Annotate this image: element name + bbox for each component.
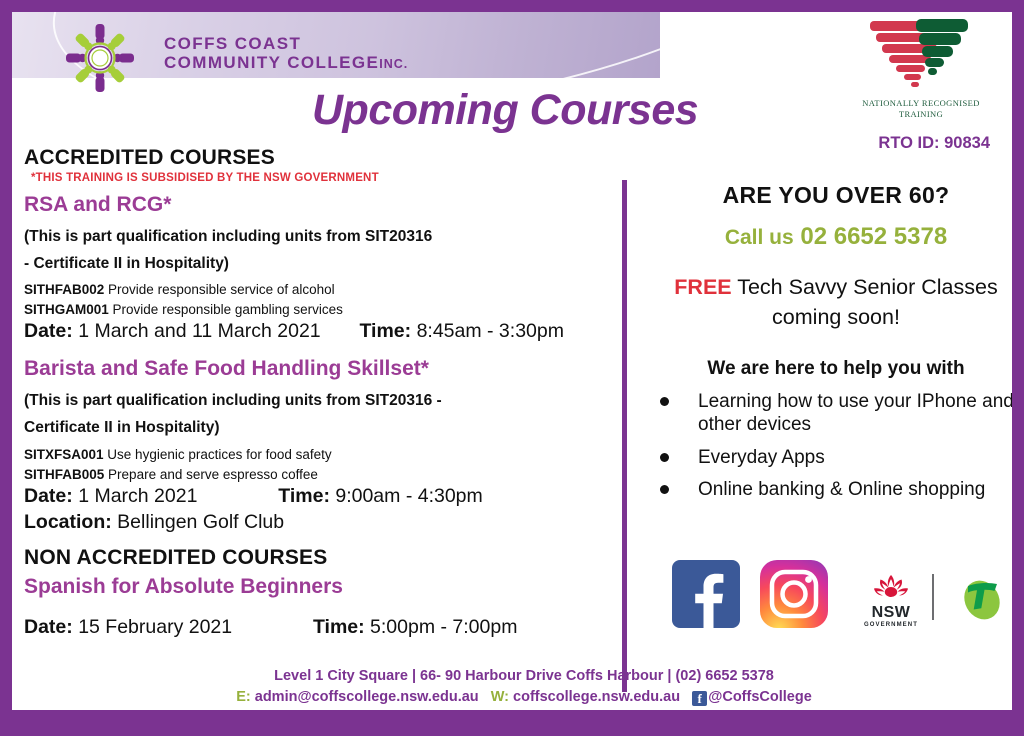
unit-code: SITHFAB002	[24, 282, 104, 297]
qual-line-2: - Certificate II in Hospitality)	[24, 250, 616, 277]
logo-separator	[932, 574, 934, 620]
nsw-government-logo: NSW GOVERNMENT	[858, 574, 924, 628]
course-title: Barista and Safe Food Handling Skillset*	[24, 357, 616, 381]
nsw-logo-subtext: GOVERNMENT	[858, 622, 924, 628]
time-value: 8:45am - 3:30pm	[417, 320, 564, 342]
footer-bar	[12, 710, 1024, 724]
waratah-icon	[868, 574, 914, 600]
time-label: Time:	[313, 616, 365, 638]
course-location: Location: Bellingen Golf Club	[24, 511, 616, 534]
accredited-heading-row: ACCREDITED COURSES*THIS TRAINING IS SUBS…	[24, 146, 616, 188]
logo-strip: NSW GOVERNMENT	[672, 560, 1024, 670]
web-label: W:	[491, 689, 509, 705]
free-badge: FREE	[674, 275, 731, 299]
free-classes-line-2: coming soon!	[648, 303, 1024, 333]
left-column: ACCREDITED COURSES*THIS TRAINING IS SUBS…	[24, 146, 616, 639]
time-value: 5:00pm - 7:00pm	[370, 616, 517, 638]
facebook-icon[interactable]	[672, 560, 740, 628]
brand-inc: INC.	[379, 57, 408, 71]
unit-name: Provide responsible service of alcohol	[108, 282, 335, 297]
footer-contact: Level 1 City Square | 66- 90 Harbour Dri…	[12, 666, 1024, 708]
course-date-time: Date: 1 March and 11 March 2021 Time: 8:…	[24, 320, 616, 343]
footer-address: Level 1 City Square | 66- 90 Harbour Dri…	[12, 666, 1024, 687]
location-label: Location:	[24, 511, 112, 533]
help-list: Learning how to use your IPhone and othe…	[648, 390, 1024, 501]
footer-links: E: admin@coffscollege.nsw.edu.au W: coff…	[12, 687, 1024, 708]
time-label: Time:	[278, 485, 330, 507]
course-unit: SITHGAM001 Provide responsible gambling …	[24, 302, 616, 317]
column-divider	[622, 180, 627, 692]
list-item: Learning how to use your IPhone and othe…	[648, 390, 1024, 436]
course-unit: SITHFAB005 Prepare and serve espresso co…	[24, 467, 616, 482]
college-logo	[48, 22, 152, 94]
unit-name: Prepare and serve espresso coffee	[108, 467, 318, 482]
page-title: Upcoming Courses	[312, 86, 698, 135]
course-qualification: (This is part qualification including un…	[24, 387, 616, 441]
unit-name: Provide responsible gambling services	[113, 302, 343, 317]
non-accredited-courses-heading: NON ACCREDITED COURSES	[24, 546, 327, 570]
list-item: Everyday Apps	[648, 446, 1024, 469]
qual-line-2: Certificate II in Hospitality)	[24, 414, 616, 441]
course-qualification: (This is part qualification including un…	[24, 223, 616, 277]
phone-number: 02 6652 5378	[800, 223, 947, 250]
telstra-icon	[954, 570, 1010, 626]
free-classes-line: FREE Tech Savvy Senior Classes coming so…	[648, 273, 1024, 332]
over-60-heading: ARE YOU OVER 60?	[648, 182, 1024, 209]
date-label: Date:	[24, 320, 73, 342]
qual-line-1: (This is part qualification including un…	[24, 223, 616, 250]
facebook-handle[interactable]: @CoffsCollege	[708, 689, 812, 705]
qual-line-1: (This is part qualification including un…	[24, 387, 616, 414]
course-block-barista: Barista and Safe Food Handling Skillset*…	[24, 357, 616, 533]
subsidy-note: *THIS TRAINING IS SUBSIDISED BY THE NSW …	[31, 172, 379, 184]
time-label: Time:	[359, 320, 411, 342]
rto-id: RTO ID: 90834	[790, 134, 990, 153]
brand-line-1: COFFS COAST	[164, 34, 408, 53]
facebook-icon[interactable]: f	[692, 691, 707, 706]
course-unit: SITXFSA001 Use hygienic practices for fo…	[24, 447, 616, 462]
instagram-icon[interactable]	[760, 560, 828, 628]
right-column: ARE YOU OVER 60? Call us 02 6652 5378 FR…	[648, 182, 1024, 510]
date-label: Date:	[24, 616, 73, 638]
brand-line-2: COMMUNITY COLLEGEINC.	[164, 53, 408, 72]
course-title: Spanish for Absolute Beginners	[24, 575, 616, 599]
poster-canvas: COFFS COAST COMMUNITY COLLEGEINC.	[0, 0, 1024, 736]
free-classes-text: Tech Savvy Senior Classes	[732, 275, 998, 299]
nrt-caption-line-1: NATIONALLY RECOGNISED	[852, 98, 990, 109]
brand-wordmark: COFFS COAST COMMUNITY COLLEGEINC.	[164, 34, 408, 72]
website-url[interactable]: coffscollege.nsw.edu.au	[509, 689, 680, 705]
email-label: E:	[236, 689, 251, 705]
course-date-time: Date: 1 March 2021 Time: 9:00am - 4:30pm	[24, 485, 616, 508]
nrt-caption: NATIONALLY RECOGNISED TRAINING	[852, 98, 990, 119]
unit-code: SITXFSA001	[24, 447, 104, 462]
nrt-funnel-icon	[856, 18, 986, 92]
location-value: Bellingen Golf Club	[117, 511, 284, 533]
date-label: Date:	[24, 485, 73, 507]
course-title: RSA and RCG*	[24, 193, 616, 217]
unit-code: SITHFAB005	[24, 467, 104, 482]
non-accredited-block: NON ACCREDITED COURSES Spanish for Absol…	[24, 546, 616, 639]
accredited-courses-heading: ACCREDITED COURSES	[24, 146, 275, 170]
call-us-label: Call us	[725, 226, 794, 249]
course-date-time: Date: 15 February 2021 Time: 5:00pm - 7:…	[24, 616, 616, 639]
nrt-caption-line-2: TRAINING	[852, 109, 990, 120]
unit-code: SITHGAM001	[24, 302, 109, 317]
unit-name: Use hygienic practices for food safety	[107, 447, 331, 462]
course-block-rsa-rcg: RSA and RCG* (This is part qualification…	[24, 193, 616, 343]
nationally-recognised-training-logo: NATIONALLY RECOGNISED TRAINING	[852, 18, 990, 122]
email-address[interactable]: admin@coffscollege.nsw.edu.au	[251, 689, 479, 705]
time-value: 9:00am - 4:30pm	[335, 485, 482, 507]
date-value: 15 February 2021	[78, 616, 232, 638]
course-unit: SITHFAB002 Provide responsible service o…	[24, 282, 616, 297]
nsw-logo-text: NSW	[858, 605, 924, 621]
help-heading: We are here to help you with	[648, 358, 1024, 380]
list-item: Online banking & Online shopping	[648, 478, 1024, 501]
date-value: 1 March 2021	[78, 485, 197, 507]
call-us-line: Call us 02 6652 5378	[648, 223, 1024, 251]
date-value: 1 March and 11 March 2021	[78, 320, 320, 342]
